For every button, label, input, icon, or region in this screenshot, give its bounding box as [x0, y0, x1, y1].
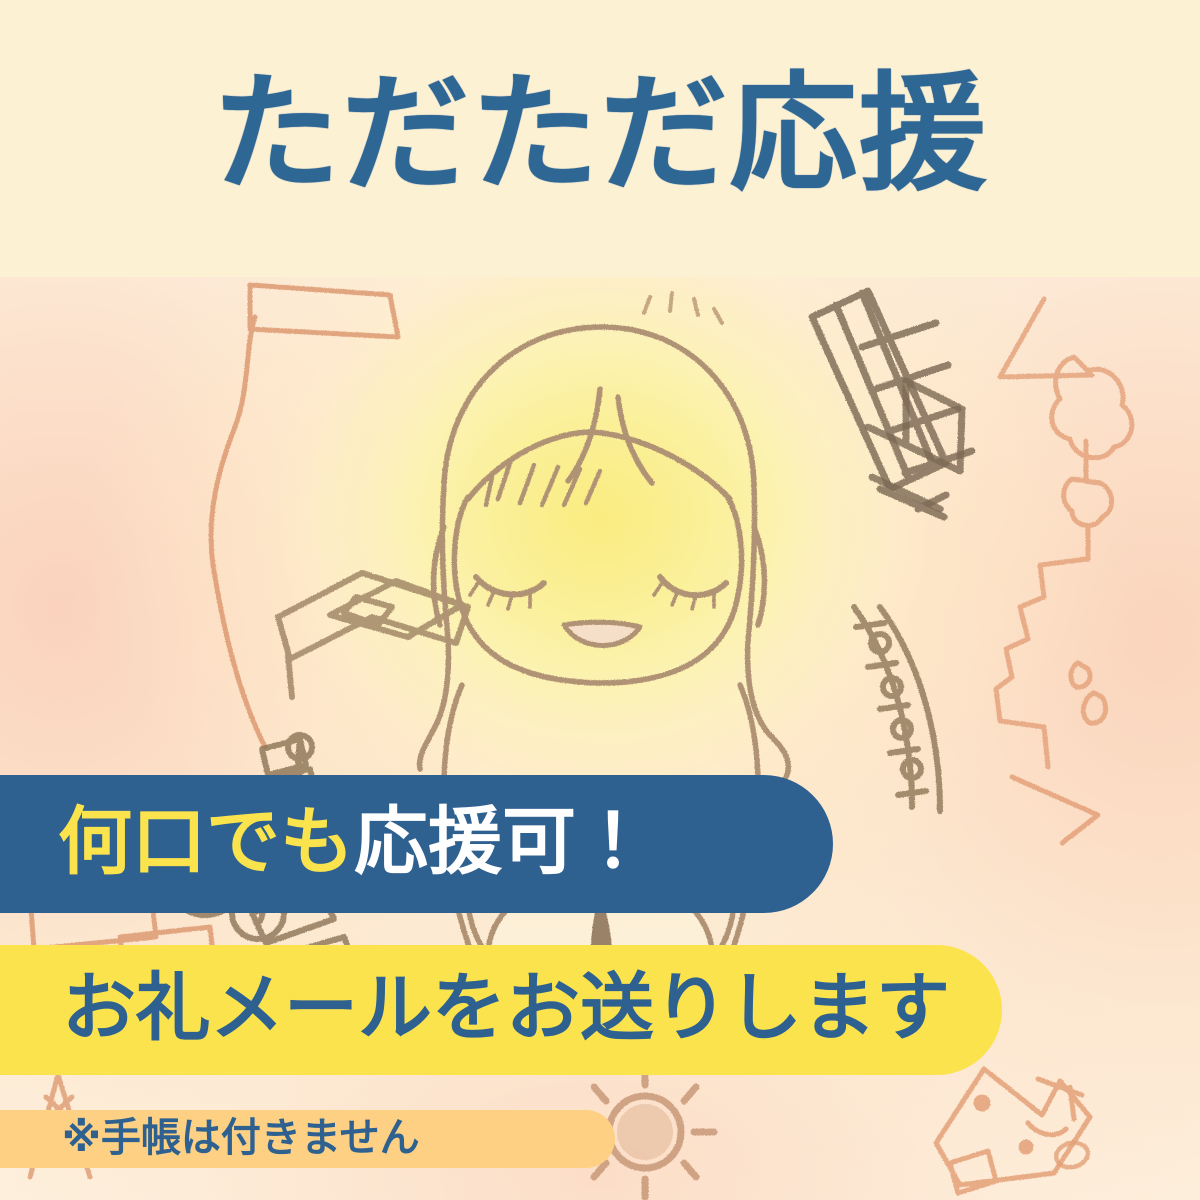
tree-icon [996, 299, 1132, 767]
header-band: ただただ応援 [0, 0, 1200, 277]
page-title: ただただ応援 [212, 71, 988, 199]
reward-card: ただただ応援 何口でも応援可！ お礼メールをお送りします ※手帳は付きません [0, 0, 1200, 1200]
primary-banner-rest: 応援可！ [354, 800, 650, 883]
primary-banner: 何口でも応援可！ [0, 775, 833, 913]
secondary-banner-text: お礼メールをお送りします [62, 971, 950, 1045]
secondary-banner: お礼メールをお送りします [0, 945, 1002, 1075]
primary-banner-highlight: 何口でも [58, 800, 354, 883]
primary-banner-text: 何口でも応援可！ [58, 805, 650, 879]
note-banner-text: ※手帳は付きません [62, 1118, 420, 1158]
note-banner: ※手帳は付きません [0, 1110, 615, 1168]
